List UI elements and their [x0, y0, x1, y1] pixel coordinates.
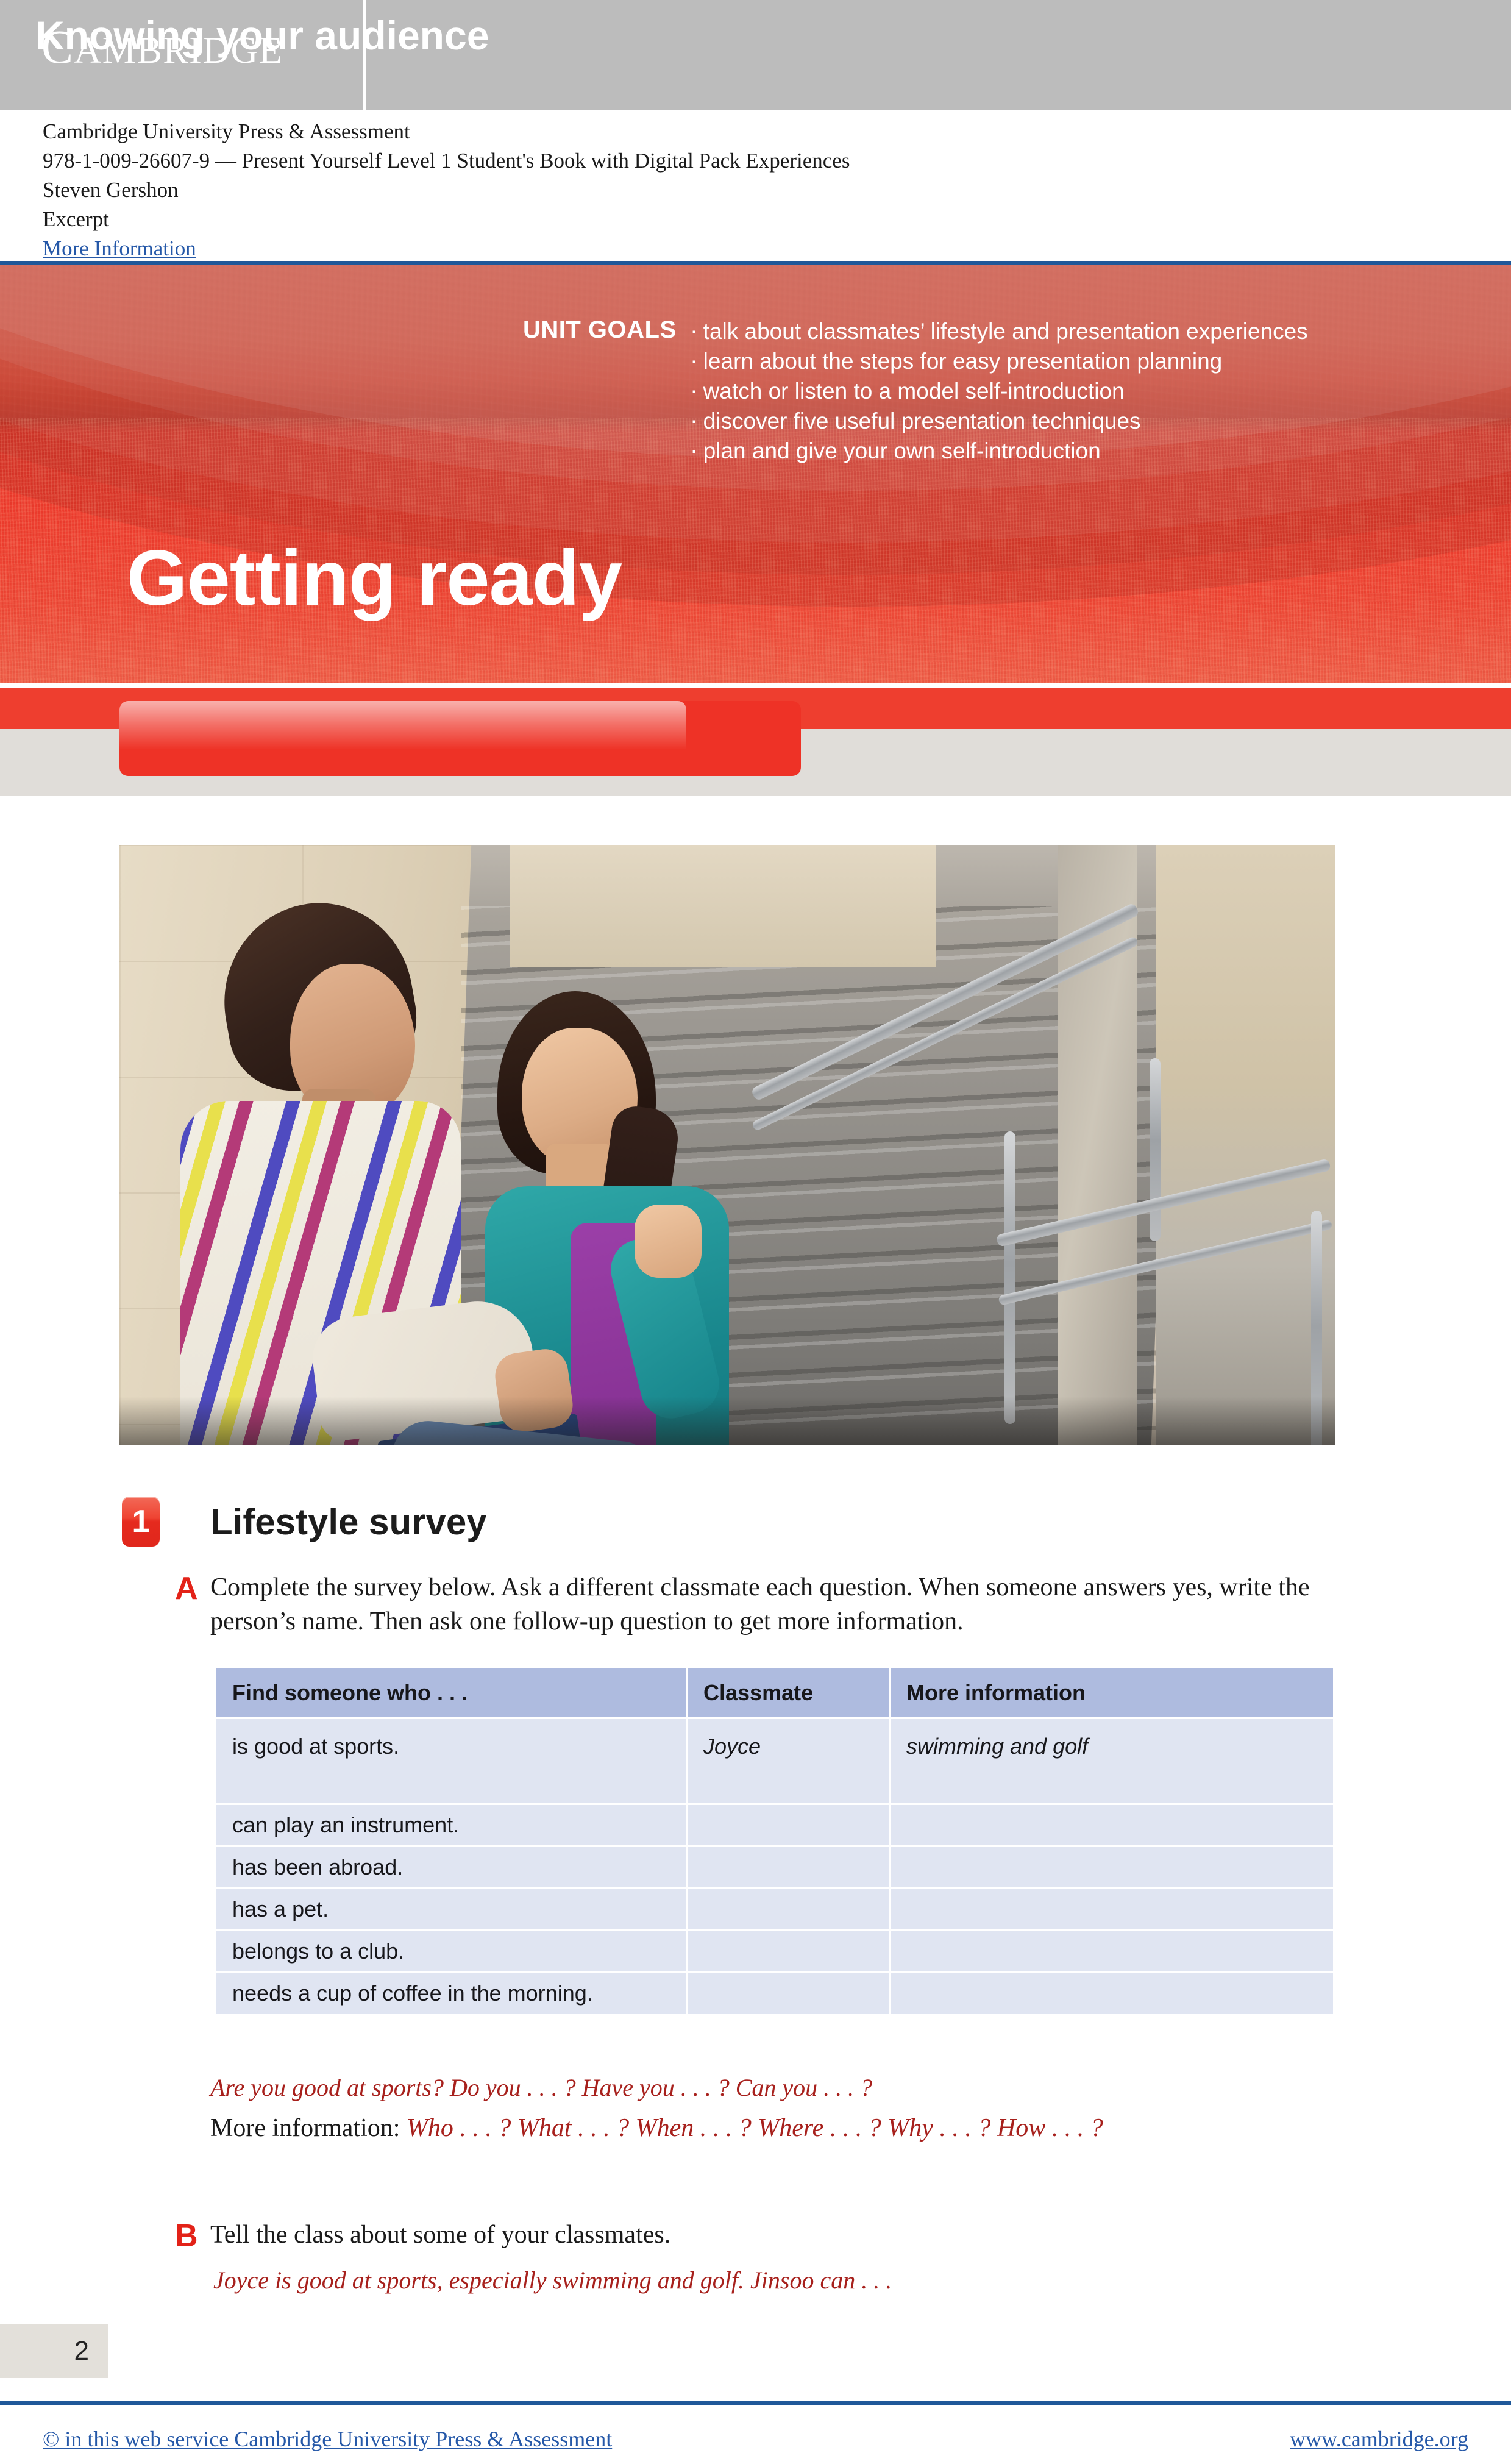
section-number: 1 — [122, 1497, 160, 1547]
task-b-letter: B — [175, 2219, 198, 2253]
unit-goals-list: talk about classmates’ lifestyle and pre… — [690, 316, 1308, 465]
meta-publisher: Cambridge University Press & Assessment — [43, 117, 1445, 146]
task-a-instructions: Complete the survey below. Ask a differe… — [210, 1570, 1344, 1639]
footer-copyright-link[interactable]: © in this web service Cambridge Universi… — [43, 2425, 612, 2453]
unit-title: Getting ready — [127, 539, 622, 618]
table-row: can play an instrument. — [216, 1805, 1333, 1845]
lifestyle-survey-table: Find someone who . . . Classmate More in… — [215, 1667, 1335, 2015]
bottom-rule — [0, 2401, 1511, 2405]
footer-website-link[interactable]: www.cambridge.org — [1290, 2425, 1468, 2453]
cell-prompt: can play an instrument. — [216, 1805, 686, 1845]
cell-classmate[interactable] — [688, 1973, 889, 2014]
task-a-letter: A — [175, 1572, 198, 1606]
photo-rail-post-1 — [1004, 1131, 1015, 1424]
task-b-instructions: Tell the class about some of your classm… — [210, 2218, 1344, 2252]
column-header-classmate: Classmate — [688, 1668, 889, 1717]
table-row: has been abroad. — [216, 1847, 1333, 1887]
meta-excerpt: Excerpt — [43, 205, 1445, 234]
example-questions-line: Are you good at sports? Do you . . . ? H… — [210, 2071, 872, 2104]
cell-more-information[interactable] — [891, 1805, 1333, 1845]
cell-classmate[interactable] — [688, 1805, 889, 1845]
table-row: has a pet. — [216, 1889, 1333, 1929]
top-rule — [0, 261, 1511, 265]
section-number-badge: 1 — [122, 1497, 160, 1547]
meta-isbn-title: 978-1-009-26607-9 — Present Yourself Lev… — [43, 146, 1445, 176]
photo-bottom-shadow — [119, 1397, 1335, 1445]
more-information-link[interactable]: More Information — [43, 234, 196, 263]
photo-upper-wall — [510, 845, 936, 967]
photo-student-female-hand — [635, 1205, 702, 1278]
lesson-tab-label: Knowing your audience — [35, 12, 489, 59]
lesson-tab — [119, 701, 801, 776]
page-number-box: 2 — [0, 2324, 108, 2378]
more-information-label: More information: — [210, 2114, 407, 2142]
table-row: belongs to a club. — [216, 1931, 1333, 1971]
table-row: is good at sports. Joyce swimming and go… — [216, 1719, 1333, 1803]
unit-goal-item: talk about classmates’ lifestyle and pre… — [690, 316, 1308, 346]
more-information-questions: Who . . . ? What . . . ? When . . . ? Wh… — [407, 2114, 1103, 2142]
cell-prompt: has been abroad. — [216, 1847, 686, 1887]
example-more-information-line: More information: Who . . . ? What . . .… — [210, 2112, 1103, 2145]
unit-goal-item: discover five useful presentation techni… — [690, 405, 1308, 435]
tab-sheen — [119, 701, 686, 750]
section-title: Lifestyle survey — [210, 1501, 487, 1544]
table-row: needs a cup of coffee in the morning. — [216, 1973, 1333, 2014]
cell-prompt: has a pet. — [216, 1889, 686, 1929]
cell-more-information[interactable] — [891, 1889, 1333, 1929]
meta-author: Steven Gershon — [43, 176, 1445, 205]
unit-goals-label: UNIT GOALS — [523, 316, 677, 344]
cell-more-information[interactable] — [891, 1973, 1333, 2014]
book-page: CAMBRIDGE Cambridge University Press & A… — [0, 0, 1511, 2464]
unit-goal-item: plan and give your own self-introduction — [690, 435, 1308, 465]
unit-goal-item: learn about the steps for easy presentat… — [690, 346, 1308, 376]
cell-classmate[interactable] — [688, 1931, 889, 1971]
cell-prompt: belongs to a club. — [216, 1931, 686, 1971]
cell-classmate[interactable] — [688, 1889, 889, 1929]
cell-prompt: is good at sports. — [216, 1719, 686, 1803]
lesson-photo — [119, 845, 1335, 1445]
cell-more-information[interactable]: swimming and golf — [891, 1719, 1333, 1803]
publication-metadata: Cambridge University Press & Assessment … — [43, 117, 1445, 263]
photo-rail-post-2 — [1150, 1058, 1161, 1241]
unit-goal-item: watch or listen to a model self-introduc… — [690, 376, 1308, 405]
column-header-more-information: More information — [891, 1668, 1333, 1717]
unit-goals-block: UNIT GOALS talk about classmates’ lifest… — [523, 316, 1308, 465]
page-number: 2 — [0, 2324, 108, 2378]
column-header-prompt: Find someone who . . . — [216, 1668, 686, 1717]
cell-more-information[interactable] — [891, 1847, 1333, 1887]
cell-more-information[interactable] — [891, 1931, 1333, 1971]
table-header-row: Find someone who . . . Classmate More in… — [216, 1668, 1333, 1717]
task-b-example: Joyce is good at sports, especially swim… — [213, 2264, 892, 2297]
cell-classmate[interactable] — [688, 1847, 889, 1887]
cell-classmate[interactable]: Joyce — [688, 1719, 889, 1803]
cell-prompt: needs a cup of coffee in the morning. — [216, 1973, 686, 2014]
